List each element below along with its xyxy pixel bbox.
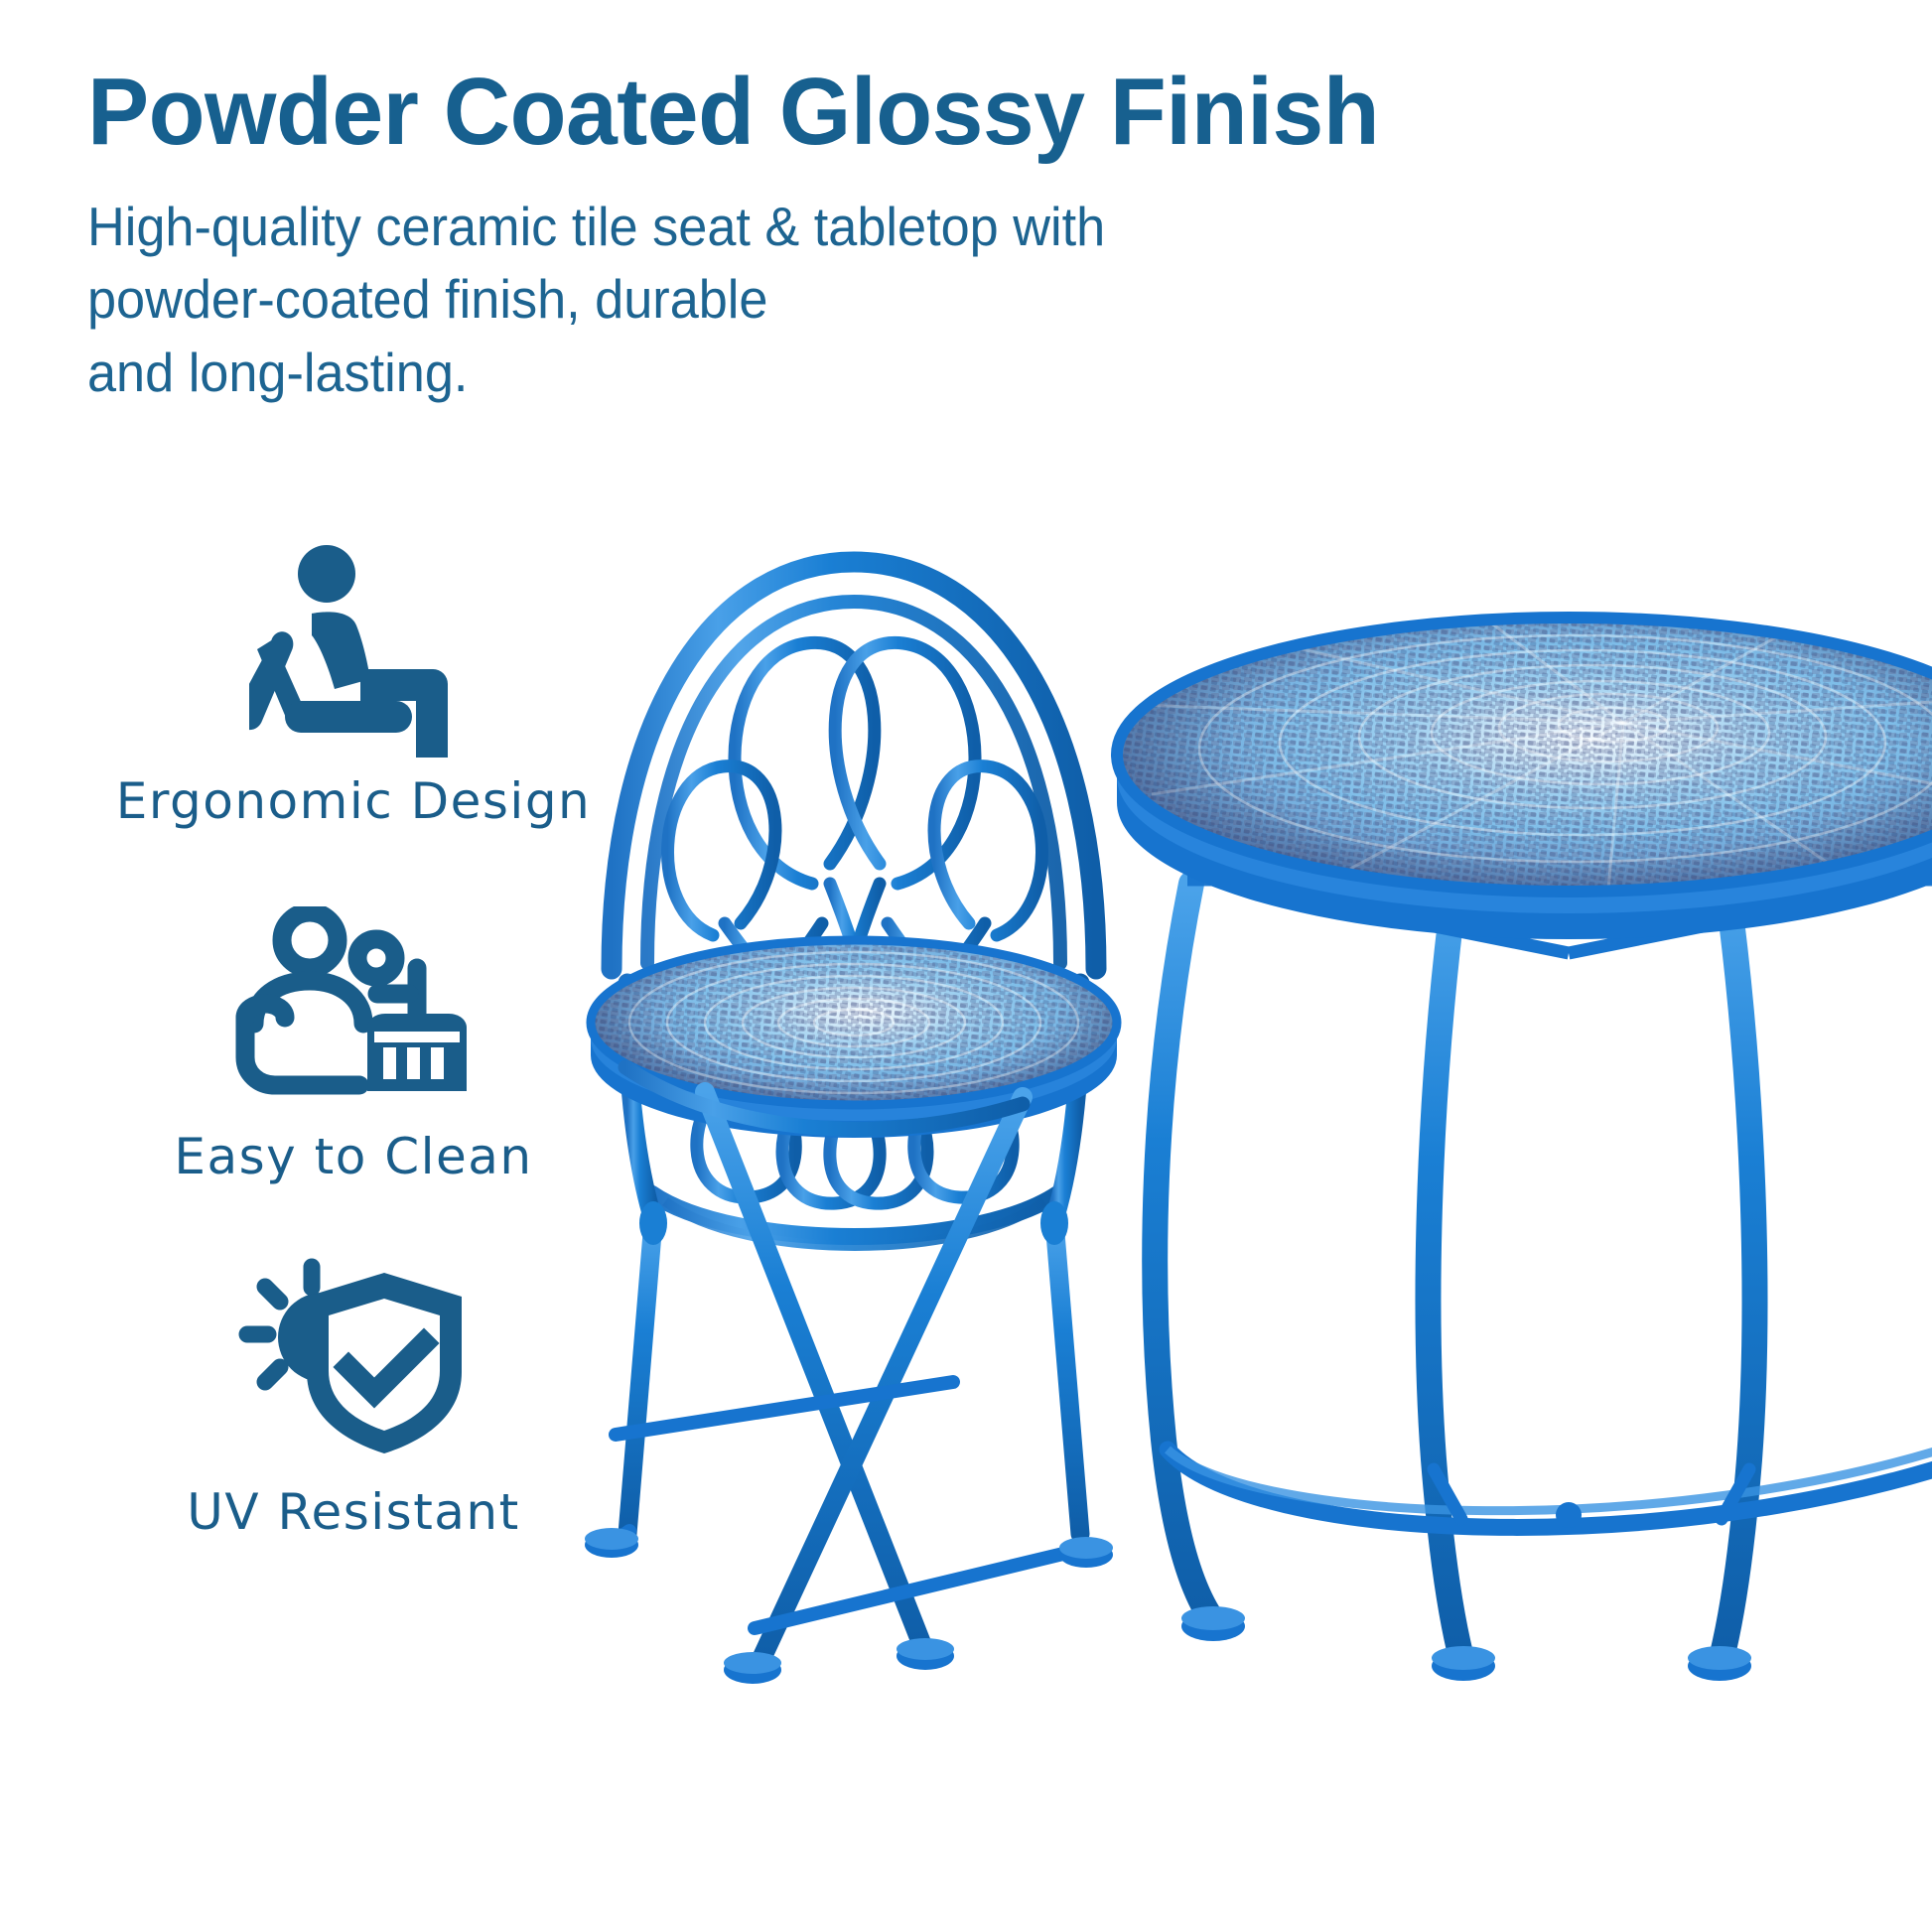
feature-list: Ergonomic Design — [95, 536, 612, 1602]
tabletop — [1102, 606, 1932, 939]
feature-label: Easy to Clean — [95, 1128, 612, 1185]
subtitle-line-1: High-quality ceramic tile seat & tableto… — [87, 191, 1502, 264]
chair — [576, 562, 1142, 1684]
seated-person-icon — [95, 536, 612, 764]
feature-label: Ergonomic Design — [95, 772, 612, 830]
page-title: Powder Coated Glossy Finish — [87, 62, 1532, 163]
feature-item-uv-resistant: UV Resistant — [95, 1247, 612, 1541]
feature-item-easy-to-clean: Easy to Clean — [95, 892, 612, 1185]
sun-shield-check-icon — [95, 1247, 612, 1475]
feature-label: UV Resistant — [95, 1483, 612, 1541]
feature-item-ergonomic-design: Ergonomic Design — [95, 536, 612, 830]
bucket-and-brush-icon — [95, 892, 612, 1120]
table — [1102, 606, 1932, 1681]
subtitle-line-2: powder-coated finish, durable — [87, 263, 1502, 337]
product-photo — [556, 328, 1932, 1932]
infographic-canvas: Powder Coated Glossy Finish High-quality… — [0, 0, 1932, 1932]
